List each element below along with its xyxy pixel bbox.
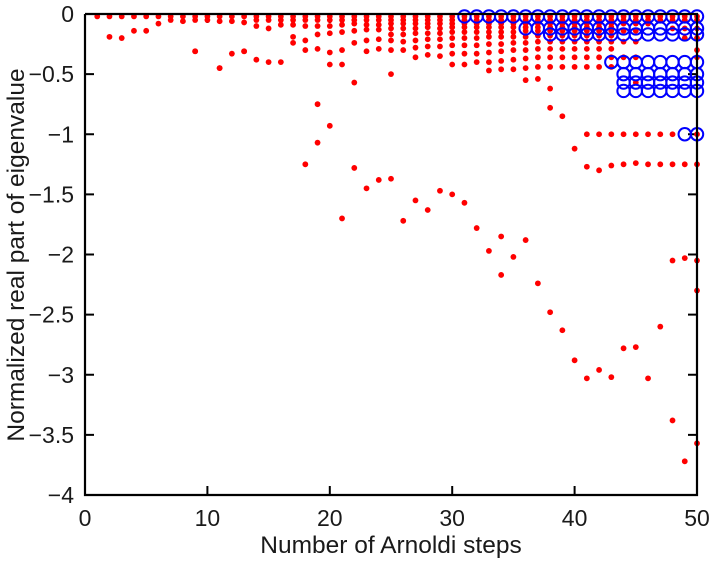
ritz-value-marker xyxy=(351,80,357,86)
ritz-value-marker xyxy=(584,131,590,137)
ritz-value-marker xyxy=(535,64,541,70)
ritz-value-marker xyxy=(572,64,578,70)
ritz-value-marker xyxy=(327,123,333,129)
ritz-value-marker xyxy=(559,54,565,60)
ritz-value-marker xyxy=(474,35,480,41)
ritz-value-marker xyxy=(413,54,419,60)
ritz-value-marker xyxy=(376,177,382,183)
scatter-plot: 010203040500−0.5−1−1.5−2−2.5−3−3.5−4 Num… xyxy=(0,0,714,561)
x-tick-label: 0 xyxy=(79,505,92,531)
ritz-value-marker xyxy=(217,18,223,24)
ritz-value-marker xyxy=(351,28,357,34)
ritz-value-marker xyxy=(437,30,443,36)
ritz-value-marker xyxy=(253,57,259,63)
x-tick-label: 30 xyxy=(439,505,465,531)
ritz-value-marker xyxy=(486,41,492,47)
converged-eigenvalue-marker xyxy=(666,56,678,68)
ritz-value-marker xyxy=(596,46,602,52)
ritz-value-marker xyxy=(327,17,333,23)
ritz-value-marker xyxy=(327,50,333,56)
ritz-value-marker xyxy=(498,272,504,278)
ritz-value-marker xyxy=(486,248,492,254)
ritz-value-marker xyxy=(523,237,529,243)
ritz-value-marker xyxy=(413,197,419,203)
ritz-value-marker xyxy=(425,30,431,36)
ritz-value-marker xyxy=(413,38,419,44)
ritz-value-marker xyxy=(498,34,504,40)
ritz-value-marker xyxy=(584,64,590,70)
ritz-value-marker xyxy=(143,28,149,34)
ritz-value-marker xyxy=(351,21,357,27)
ritz-value-marker xyxy=(302,47,308,53)
ritz-value-marker xyxy=(474,225,480,231)
ritz-value-marker xyxy=(425,24,431,30)
ritz-value-marker xyxy=(437,53,443,59)
ritz-value-marker xyxy=(315,32,321,38)
ritz-value-marker xyxy=(547,46,553,52)
ritz-value-marker xyxy=(364,38,370,44)
ritz-value-marker xyxy=(511,47,517,53)
ritz-value-marker xyxy=(351,40,357,46)
ritz-value-marker xyxy=(376,46,382,52)
y-tick-label: −2.5 xyxy=(29,302,74,328)
ritz-value-marker xyxy=(437,44,443,50)
ritz-value-marker xyxy=(290,22,296,28)
ritz-value-marker xyxy=(657,131,663,137)
ritz-value-marker xyxy=(670,418,676,424)
ritz-value-marker xyxy=(535,46,541,52)
series-ritz xyxy=(94,14,700,465)
ritz-value-marker xyxy=(584,375,590,381)
ritz-value-marker xyxy=(290,40,296,46)
ritz-value-marker xyxy=(462,200,468,206)
x-tick-label: 20 xyxy=(317,505,343,531)
ritz-value-marker xyxy=(388,38,394,44)
converged-eigenvalue-marker xyxy=(654,85,666,97)
ritz-value-marker xyxy=(523,40,529,46)
ritz-value-marker xyxy=(425,52,431,58)
ritz-value-marker xyxy=(376,27,382,33)
ritz-value-marker xyxy=(682,458,688,464)
ritz-value-marker xyxy=(486,34,492,40)
ritz-value-marker xyxy=(596,367,602,373)
ritz-value-marker xyxy=(449,29,455,35)
ritz-value-marker xyxy=(327,23,333,29)
ritz-value-marker xyxy=(523,47,529,53)
ritz-value-marker xyxy=(633,344,639,350)
ritz-value-marker xyxy=(425,36,431,42)
y-tick-label: 0 xyxy=(61,1,74,27)
ritz-value-marker xyxy=(511,254,517,260)
y-tick-label: −1.5 xyxy=(29,181,74,207)
ritz-value-marker xyxy=(462,35,468,41)
tick-labels-group: 010203040500−0.5−1−1.5−2−2.5−3−3.5−4 xyxy=(29,1,710,531)
ritz-value-marker xyxy=(547,54,553,60)
ritz-value-marker xyxy=(168,17,174,23)
ritz-value-marker xyxy=(511,57,517,63)
ritz-value-marker xyxy=(388,71,394,77)
ritz-value-marker xyxy=(253,23,259,29)
ritz-value-marker xyxy=(449,62,455,68)
ritz-value-marker xyxy=(523,28,529,34)
ritz-value-marker xyxy=(547,86,553,92)
ritz-value-marker xyxy=(449,35,455,41)
ritz-value-marker xyxy=(462,29,468,35)
ritz-value-marker xyxy=(584,164,590,170)
ritz-value-marker xyxy=(474,51,480,57)
y-tick-label: −3.5 xyxy=(29,422,74,448)
ritz-value-marker xyxy=(400,39,406,45)
ritz-value-marker xyxy=(278,59,284,65)
ritz-value-marker xyxy=(572,54,578,60)
data-points-group xyxy=(94,10,703,464)
ritz-value-marker xyxy=(413,30,419,36)
ritz-value-marker xyxy=(474,59,480,65)
ritz-value-marker xyxy=(535,280,541,286)
y-tick-label: −2 xyxy=(48,242,74,268)
ritz-value-marker xyxy=(107,34,113,40)
ritz-value-marker xyxy=(462,42,468,48)
ritz-value-marker xyxy=(486,68,492,74)
ritz-value-marker xyxy=(535,54,541,60)
ritz-value-marker xyxy=(437,36,443,42)
ritz-value-marker xyxy=(498,234,504,240)
ritz-value-marker xyxy=(315,17,321,23)
ritz-value-marker xyxy=(498,66,504,72)
ritz-value-marker xyxy=(559,113,565,119)
ritz-value-marker xyxy=(388,176,394,182)
ritz-value-marker xyxy=(633,131,639,137)
ritz-value-marker xyxy=(498,41,504,47)
ritz-value-marker xyxy=(302,38,308,44)
figure-container: 010203040500−0.5−1−1.5−2−2.5−3−3.5−4 Num… xyxy=(0,0,714,561)
x-tick-label: 10 xyxy=(195,505,221,531)
ritz-value-marker xyxy=(339,216,345,222)
ritz-value-marker xyxy=(302,23,308,29)
ritz-value-marker xyxy=(670,258,676,264)
ritz-value-marker xyxy=(241,48,247,54)
ritz-value-marker xyxy=(266,17,272,23)
ritz-value-marker xyxy=(364,27,370,33)
series-converged xyxy=(458,10,703,140)
ritz-value-marker xyxy=(192,17,198,23)
ritz-value-marker xyxy=(511,66,517,72)
converged-eigenvalue-marker xyxy=(642,56,654,68)
x-axis-label: Number of Arnoldi steps xyxy=(260,532,521,559)
ritz-value-marker xyxy=(559,64,565,70)
ritz-value-marker xyxy=(462,62,468,68)
converged-eigenvalue-marker xyxy=(654,56,666,68)
ritz-value-marker xyxy=(547,105,553,111)
ritz-value-marker xyxy=(266,59,272,65)
ritz-value-marker xyxy=(425,44,431,50)
ritz-value-marker xyxy=(376,36,382,42)
ritz-value-marker xyxy=(339,47,345,53)
ritz-value-marker xyxy=(682,255,688,261)
ritz-value-marker xyxy=(547,64,553,70)
ritz-value-marker xyxy=(339,22,345,28)
ritz-value-marker xyxy=(608,374,614,380)
ritz-value-marker xyxy=(559,46,565,52)
ritz-value-marker xyxy=(523,77,529,83)
ritz-value-marker xyxy=(657,161,663,167)
ritz-value-marker xyxy=(425,207,431,213)
ritz-value-marker xyxy=(572,146,578,152)
ritz-value-marker xyxy=(278,22,284,28)
ritz-value-marker xyxy=(621,131,627,137)
ritz-value-marker xyxy=(302,17,308,23)
ritz-value-marker xyxy=(523,65,529,71)
ritz-value-marker xyxy=(437,188,443,194)
ritz-value-marker xyxy=(156,21,162,27)
y-tick-label: −1 xyxy=(48,121,74,147)
ritz-value-marker xyxy=(253,17,259,23)
ritz-value-marker xyxy=(572,46,578,52)
ritz-value-marker xyxy=(400,218,406,224)
ritz-value-marker xyxy=(119,35,125,41)
converged-eigenvalue-marker xyxy=(679,56,691,68)
ritz-value-marker xyxy=(645,161,651,167)
ritz-value-marker xyxy=(486,50,492,56)
ritz-value-marker xyxy=(315,46,321,52)
ritz-value-marker xyxy=(217,65,223,71)
ritz-value-marker xyxy=(462,51,468,57)
ritz-value-marker xyxy=(535,39,541,45)
ritz-value-marker xyxy=(498,58,504,64)
ritz-value-marker xyxy=(315,23,321,29)
ritz-value-marker xyxy=(400,26,406,32)
x-tick-label: 50 xyxy=(684,505,710,531)
ritz-value-marker xyxy=(596,54,602,60)
ritz-value-marker xyxy=(670,161,676,167)
converged-eigenvalue-marker xyxy=(617,85,629,97)
ritz-value-marker xyxy=(596,167,602,173)
ritz-value-marker xyxy=(511,34,517,40)
ritz-value-marker xyxy=(474,29,480,35)
ritz-value-marker xyxy=(449,51,455,57)
ritz-value-marker xyxy=(511,40,517,46)
ritz-value-marker xyxy=(388,26,394,32)
ritz-value-marker xyxy=(621,345,627,351)
ritz-value-marker xyxy=(486,59,492,65)
ritz-value-marker xyxy=(241,20,247,26)
ritz-value-marker xyxy=(645,375,651,381)
ritz-value-marker xyxy=(596,131,602,137)
ritz-value-marker xyxy=(400,47,406,53)
converged-eigenvalue-marker xyxy=(666,85,678,97)
tick-marks-group xyxy=(85,14,697,495)
converged-eigenvalue-marker xyxy=(679,85,691,97)
ritz-value-marker xyxy=(670,131,676,137)
ritz-value-marker xyxy=(180,18,186,24)
ritz-value-marker xyxy=(682,161,688,167)
ritz-value-marker xyxy=(266,26,272,32)
ritz-value-marker xyxy=(547,309,553,315)
ritz-value-marker xyxy=(388,32,394,38)
y-tick-label: −0.5 xyxy=(29,61,74,87)
ritz-value-marker xyxy=(559,327,565,333)
ritz-value-marker xyxy=(131,28,137,34)
ritz-value-marker xyxy=(608,131,614,137)
ritz-value-marker xyxy=(351,165,357,171)
ritz-value-marker xyxy=(302,161,308,167)
ritz-value-marker xyxy=(339,62,345,68)
ritz-value-marker xyxy=(400,32,406,38)
ritz-value-marker xyxy=(449,42,455,48)
converged-eigenvalue-marker xyxy=(642,85,654,97)
ritz-value-marker xyxy=(535,76,541,82)
ritz-value-marker xyxy=(498,48,504,54)
ritz-value-marker xyxy=(608,46,614,52)
x-tick-label: 40 xyxy=(562,505,588,531)
axis-box xyxy=(85,14,697,495)
ritz-value-marker xyxy=(229,18,235,24)
ritz-value-marker xyxy=(523,56,529,62)
y-tick-label: −4 xyxy=(48,482,74,508)
ritz-value-marker xyxy=(192,48,198,54)
ritz-value-marker xyxy=(645,131,651,137)
axis-titles-group: Number of Arnoldi steps Normalized real … xyxy=(3,68,522,559)
ritz-value-marker xyxy=(474,42,480,48)
ritz-value-marker xyxy=(327,62,333,68)
ritz-value-marker xyxy=(449,191,455,197)
ritz-value-marker xyxy=(584,54,590,60)
ritz-value-marker xyxy=(290,34,296,40)
y-axis-label: Normalized real part of eigenvalue xyxy=(3,68,30,441)
ritz-value-marker xyxy=(657,324,663,330)
ritz-value-marker xyxy=(584,46,590,52)
ritz-value-marker xyxy=(413,45,419,51)
ritz-value-marker xyxy=(339,29,345,35)
ritz-value-marker xyxy=(388,47,394,53)
ritz-value-marker xyxy=(364,48,370,54)
ritz-value-marker xyxy=(572,357,578,363)
ritz-value-marker xyxy=(315,101,321,107)
ritz-value-marker xyxy=(205,17,211,23)
ritz-value-marker xyxy=(608,163,614,169)
ritz-value-marker xyxy=(621,161,627,167)
ritz-value-marker xyxy=(327,30,333,36)
ritz-value-marker xyxy=(633,160,639,166)
ritz-value-marker xyxy=(596,64,602,70)
ritz-value-marker xyxy=(229,51,235,57)
ritz-value-marker xyxy=(315,140,321,146)
y-tick-label: −3 xyxy=(48,362,74,388)
converged-eigenvalue-marker xyxy=(630,85,642,97)
ritz-value-marker xyxy=(364,185,370,191)
